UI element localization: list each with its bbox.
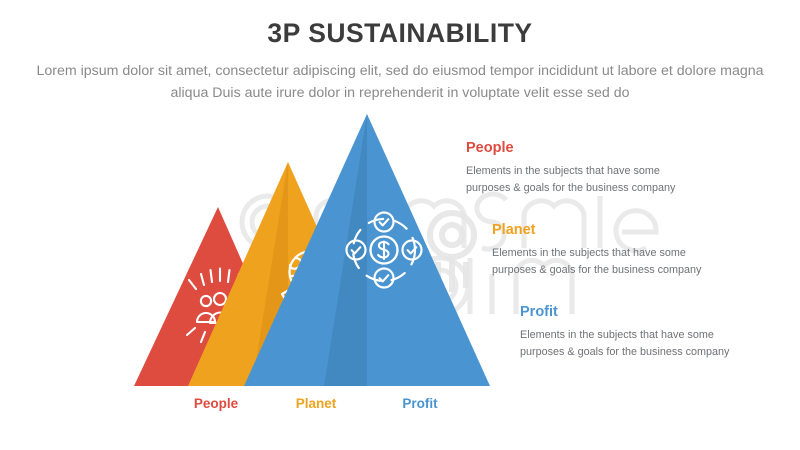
planet-triangle[interactable]	[188, 162, 388, 386]
pyramid-label-people[interactable]: People	[168, 396, 264, 411]
pyramid-layer-people[interactable]	[134, 207, 297, 386]
pyramid-label-planet[interactable]: Planet	[268, 396, 364, 411]
profit-triangle[interactable]	[244, 114, 490, 386]
infographic-canvas: 3P Sustainability Lorem ipsum dolor sit …	[0, 0, 800, 450]
description-body-people: Elements in the subjects that have some …	[466, 163, 676, 196]
people-triangle[interactable]	[134, 207, 297, 386]
pyramid-layer-profit[interactable]	[244, 114, 490, 386]
planet-triangle-shade	[252, 162, 288, 386]
description-block-planet: Planet Elements in the subjects that hav…	[492, 222, 702, 278]
dollar-checkmarks-icon	[347, 213, 422, 288]
description-block-people: People Elements in the subjects that hav…	[466, 140, 676, 196]
description-title-profit: Profit	[520, 304, 730, 321]
description-block-profit: Profit Elements in the subjects that hav…	[520, 304, 730, 360]
description-body-profit: Elements in the subjects that have some …	[520, 327, 730, 360]
description-title-people: People	[466, 140, 676, 157]
pyramid-label-profit[interactable]: Profit	[372, 396, 468, 411]
page-title: 3P Sustainability	[0, 18, 800, 50]
description-body-planet: Elements in the subjects that have some …	[492, 245, 702, 278]
globe-in-hand-icon	[282, 252, 336, 311]
pyramid-layer-planet[interactable]	[188, 162, 388, 386]
page-subtitle: Lorem ipsum dolor sit amet, consectetur …	[20, 60, 780, 104]
description-title-planet: Planet	[492, 222, 702, 239]
people-group-icon	[187, 269, 254, 348]
header: 3P Sustainability Lorem ipsum dolor sit …	[0, 18, 800, 104]
profit-triangle-shade	[324, 114, 367, 386]
